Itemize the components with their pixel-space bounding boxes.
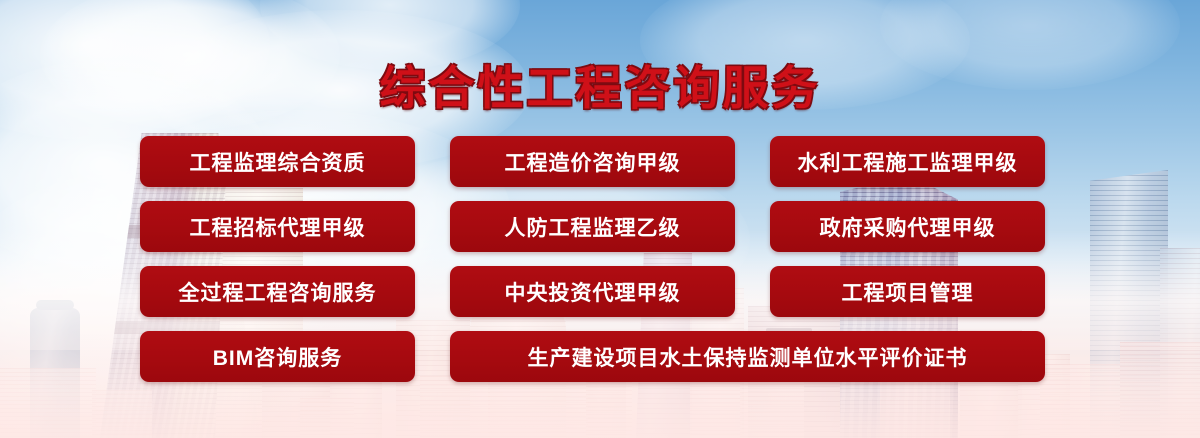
qualification-badge[interactable]: 工程造价咨询甲级 (450, 136, 735, 187)
qualification-badge[interactable]: 工程项目管理 (770, 266, 1045, 317)
qualification-badge[interactable]: 全过程工程咨询服务 (140, 266, 415, 317)
qualification-badge[interactable]: 人防工程监理乙级 (450, 201, 735, 252)
promo-banner: 综合性工程咨询服务 工程监理综合资质工程造价咨询甲级水利工程施工监理甲级工程招标… (0, 0, 1200, 438)
banner-content: 综合性工程咨询服务 工程监理综合资质工程造价咨询甲级水利工程施工监理甲级工程招标… (0, 0, 1200, 438)
qualification-badge[interactable]: 水利工程施工监理甲级 (770, 136, 1045, 187)
qualification-badge[interactable]: 中央投资代理甲级 (450, 266, 735, 317)
qualification-badge-grid: 工程监理综合资质工程造价咨询甲级水利工程施工监理甲级工程招标代理甲级人防工程监理… (140, 136, 1070, 382)
qualification-badge[interactable]: 工程监理综合资质 (140, 136, 415, 187)
qualification-badge[interactable]: 生产建设项目水土保持监测单位水平评价证书 (450, 331, 1045, 382)
qualification-badge[interactable]: BIM咨询服务 (140, 331, 415, 382)
page-title: 综合性工程咨询服务 (0, 52, 1200, 118)
qualification-badge[interactable]: 政府采购代理甲级 (770, 201, 1045, 252)
qualification-badge[interactable]: 工程招标代理甲级 (140, 201, 415, 252)
